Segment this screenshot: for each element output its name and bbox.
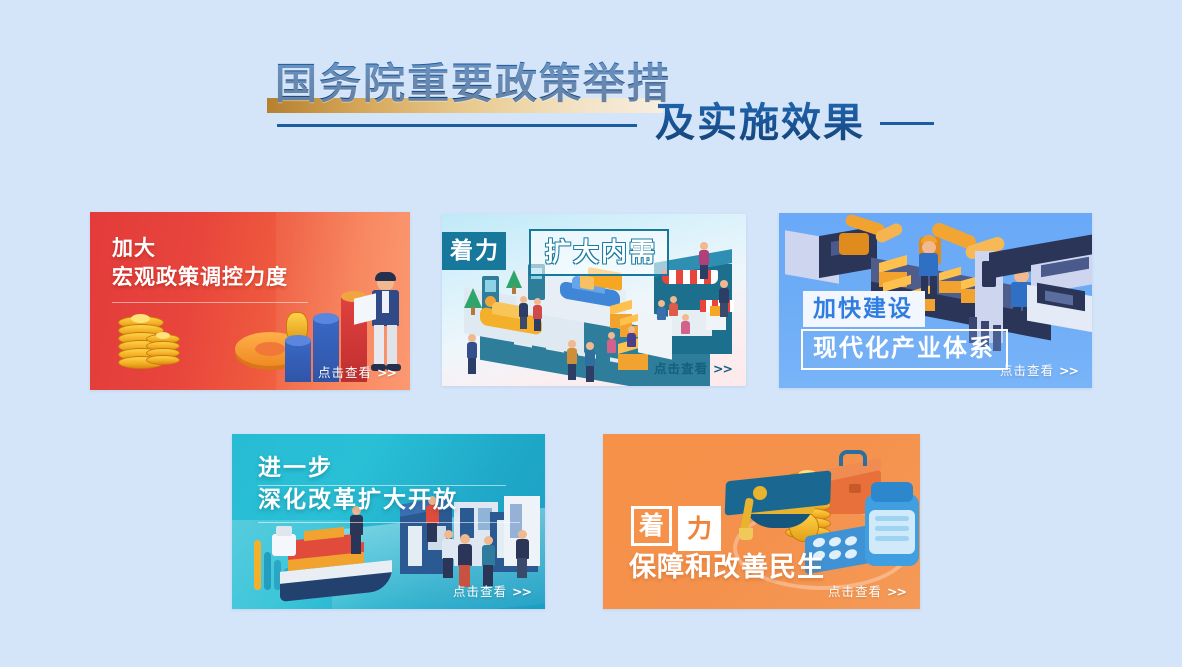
card-domestic-demand-title-outlined: 扩大内需 <box>529 229 669 276</box>
card-livelihood-cta[interactable]: 点击查看>> <box>828 581 906 600</box>
card-macro-policy-title-line1: 加大 <box>112 234 288 263</box>
title-rule-left <box>277 124 637 127</box>
card-livelihood-cta-label: 点击查看 <box>828 584 882 599</box>
card-reform-opening-title-line2: 深化改革扩大开放 <box>258 484 458 516</box>
card-macro-policy[interactable]: 加大 宏观政策调控力度 点击查看>> <box>90 212 410 390</box>
page-header: 国务院重要政策举措 及实施效果 <box>0 0 1182 185</box>
title-rule-right <box>880 122 934 125</box>
card-reform-opening-title: 进一步 深化改革扩大开放 <box>258 452 458 516</box>
card-domestic-demand-cta[interactable]: 点击查看>> <box>654 358 732 377</box>
card-macro-policy-title-line2: 宏观政策调控力度 <box>112 263 288 292</box>
page-title-line2: 及实施效果 <box>655 98 865 148</box>
card-modern-industry-cta[interactable]: 点击查看>> <box>1000 360 1078 379</box>
card-reform-opening-cta[interactable]: 点击查看>> <box>453 581 531 600</box>
card-reform-opening-cta-label: 点击查看 <box>453 584 507 599</box>
card-modern-industry-cta-label: 点击查看 <box>1000 363 1054 378</box>
card-modern-industry-title-line1: 加快建设 <box>803 291 925 327</box>
card-domestic-demand-cta-label: 点击查看 <box>654 361 708 376</box>
card-modern-industry-cta-arrows-icon: >> <box>1059 363 1078 378</box>
card-livelihood-title-line2: 保障和改善民生 <box>629 551 825 583</box>
card-domestic-demand-title-boxed: 着力 <box>442 232 506 270</box>
card-macro-policy-title: 加大 宏观政策调控力度 <box>112 234 288 292</box>
card-modern-industry[interactable]: 加快建设 现代化产业体系 点击查看>> <box>779 213 1092 388</box>
card-macro-policy-cta-label: 点击查看 <box>318 365 372 380</box>
card-reform-opening-title-line1: 进一步 <box>258 452 458 484</box>
page-title-line1: 国务院重要政策举措 <box>275 58 671 110</box>
card-livelihood[interactable]: 着 力 保障和改善民生 点击查看>> <box>603 434 920 609</box>
card-livelihood-title-char2: 力 <box>678 506 721 551</box>
card-macro-policy-cta-arrows-icon: >> <box>377 365 396 380</box>
card-domestic-demand-cta-arrows-icon: >> <box>713 361 732 376</box>
card-reform-opening-cta-arrows-icon: >> <box>512 584 531 599</box>
page-title-line1-wrapper: 国务院重要政策举措 <box>275 58 671 110</box>
card-reform-opening[interactable]: 进一步 深化改革扩大开放 点击查看>> <box>232 434 545 609</box>
card-livelihood-cta-arrows-icon: >> <box>887 584 906 599</box>
card-macro-policy-cta[interactable]: 点击查看>> <box>318 362 396 381</box>
card-domestic-demand[interactable]: 着力 扩大内需 点击查看>> <box>442 214 746 386</box>
card-livelihood-title-char1: 着 <box>631 506 672 546</box>
card-modern-industry-title-line2: 现代化产业体系 <box>801 329 1008 370</box>
